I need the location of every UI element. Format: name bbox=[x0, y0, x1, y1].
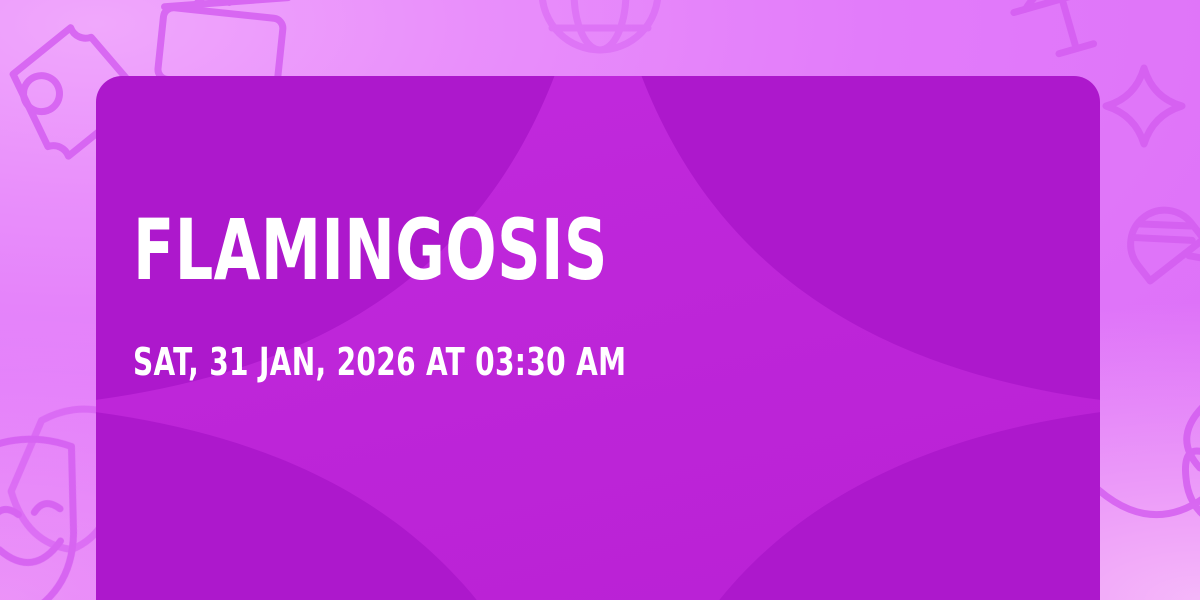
globe-icon bbox=[542, 0, 658, 50]
event-datetime: SAT, 31 JAN, 2026 AT 03:30 AM bbox=[133, 343, 626, 381]
music-stand-icon bbox=[1009, 0, 1124, 63]
event-card-banner: FLAMINGOSIS SAT, 31 JAN, 2026 AT 03:30 A… bbox=[0, 0, 1200, 600]
confetti-streamer-icon bbox=[1084, 402, 1200, 536]
sparkle-icon bbox=[1106, 68, 1182, 144]
event-card[interactable]: FLAMINGOSIS SAT, 31 JAN, 2026 AT 03:30 A… bbox=[96, 76, 1100, 600]
card-sparkle-motif bbox=[96, 76, 1100, 600]
page-title: FLAMINGOSIS bbox=[133, 208, 608, 292]
microphone-icon bbox=[1117, 182, 1200, 325]
